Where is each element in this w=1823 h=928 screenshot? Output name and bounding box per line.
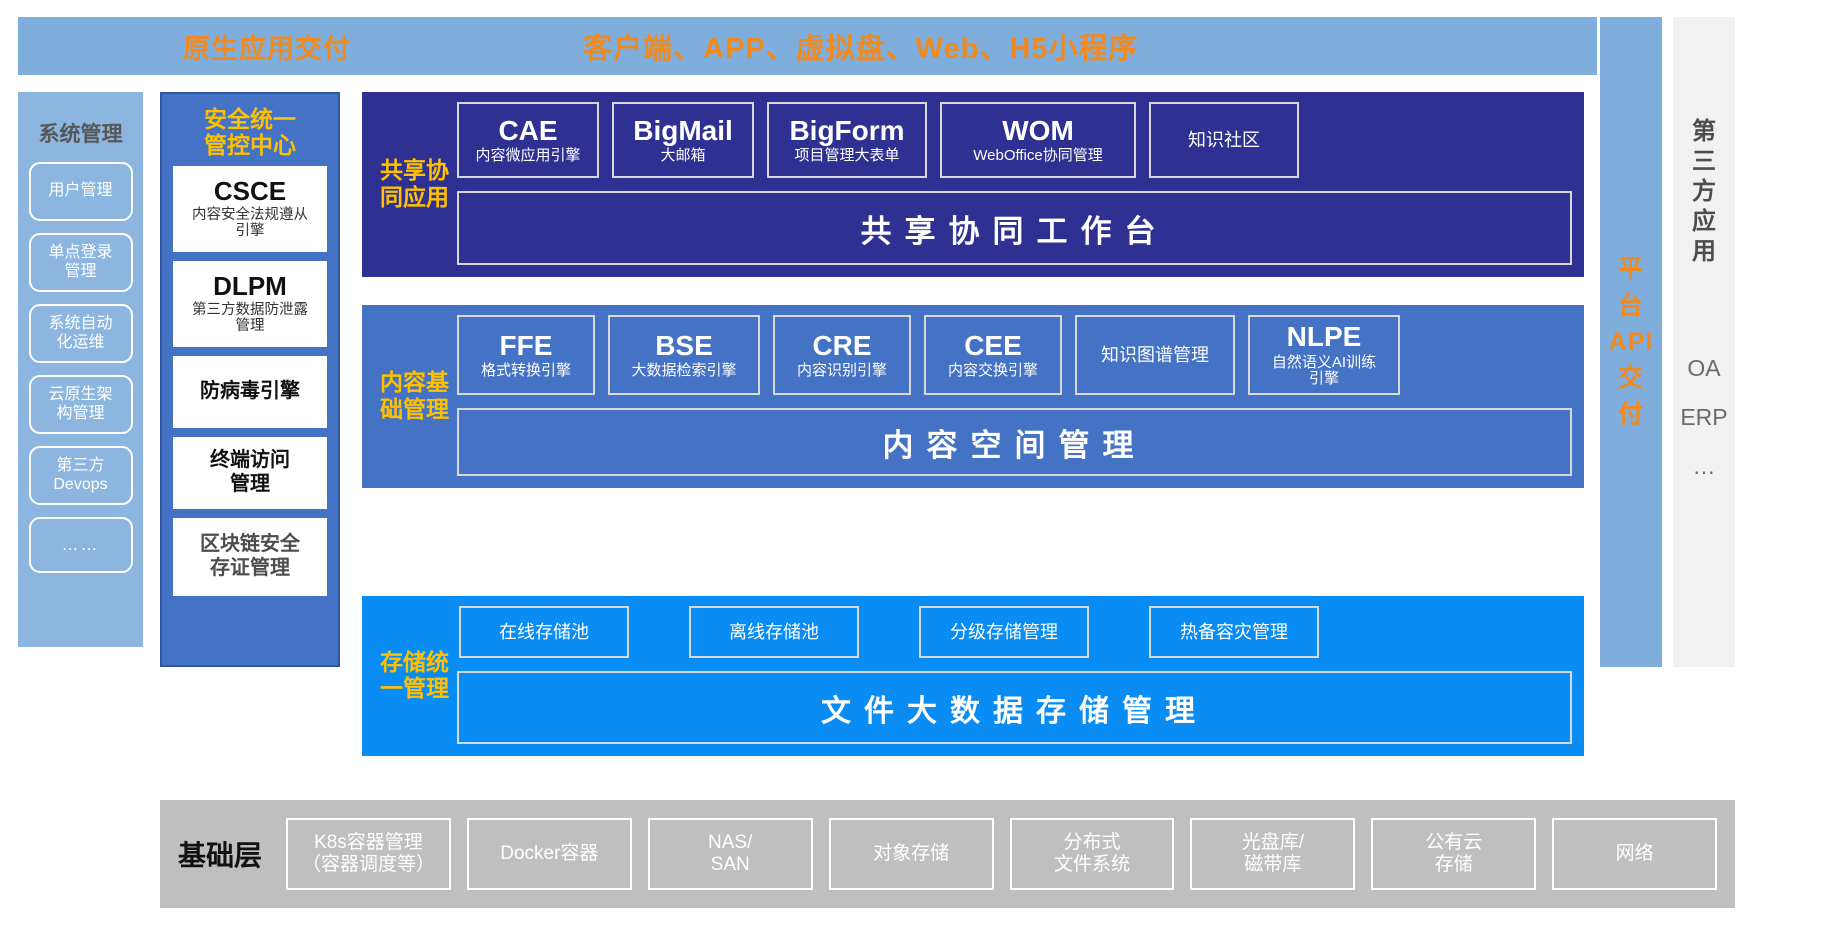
engine-tile-cee[interactable]: CEE 内容交换引擎	[924, 315, 1062, 395]
infra-tile-network[interactable]: 网络	[1552, 818, 1717, 890]
infra-tile-nas-san[interactable]: NAS/SAN	[648, 818, 813, 890]
security-item-terminal-access[interactable]: 终端访问管理	[173, 437, 327, 509]
content-foundation-label: 内容基础管理	[372, 315, 457, 476]
third-party-title-char: 应	[1692, 207, 1716, 237]
app-tile-cae[interactable]: CAE 内容微应用引擎	[457, 102, 599, 178]
infra-tile-docker[interactable]: Docker容器	[467, 818, 632, 890]
storage-tile-tiered-management[interactable]: 分级存储管理	[919, 606, 1089, 658]
sys-item-label: 系统自动化运维	[48, 315, 112, 352]
sidebar-item-cloud-native-arch[interactable]: 云原生架构管理	[29, 375, 133, 434]
storage-tile-hot-backup-dr[interactable]: 热备容灾管理	[1149, 606, 1319, 658]
content-space-management-banner[interactable]: 内容空间管理	[457, 408, 1572, 476]
infra-tile-public-cloud-storage[interactable]: 公有云存储	[1371, 818, 1536, 890]
infra-tile-k8s[interactable]: K8s容器管理（容器调度等）	[286, 818, 451, 890]
infra-tile-optical-tape-library[interactable]: 光盘库/磁带库	[1190, 818, 1355, 890]
third-party-item-oa[interactable]: OA	[1687, 355, 1720, 382]
third-party-title-char: 用	[1692, 237, 1716, 267]
app-tile-wom[interactable]: WOM WebOffice协同管理	[940, 102, 1136, 178]
client-channels-label: 客户端、APP、虚拟盘、Web、H5小程序	[583, 25, 1138, 67]
tile-title: 知识社区	[1188, 130, 1260, 151]
engine-tile-cre[interactable]: CRE 内容识别引擎	[773, 315, 911, 395]
sys-item-label: 第三方Devops	[53, 457, 107, 494]
security-item-label: 终端访问管理	[210, 449, 290, 496]
tile-subtitle: 内容微应用引擎	[475, 148, 580, 165]
third-party-item-erp[interactable]: ERP	[1680, 404, 1727, 431]
platform-api-char: 交	[1609, 360, 1654, 396]
platform-api-char: 付	[1609, 396, 1654, 432]
security-item-antivirus-engine[interactable]: 防病毒引擎	[173, 356, 327, 428]
infrastructure-layer: 基础层 K8s容器管理（容器调度等） Docker容器 NAS/SAN 对象存储…	[160, 800, 1735, 908]
security-center-title: 安全统一管控中心	[173, 107, 327, 159]
storage-unified-row: 存储统一管理 在线存储池 离线存储池 分级存储管理 热备容灾管理 文件大数据存储…	[362, 596, 1584, 756]
sys-item-label: 单点登录管理	[48, 244, 112, 281]
sidebar-item-automated-ops[interactable]: 系统自动化运维	[29, 304, 133, 363]
tile-title: 知识图谱管理	[1101, 345, 1209, 366]
engine-tile-knowledge-graph[interactable]: 知识图谱管理	[1075, 315, 1235, 395]
tile-subtitle: 内容识别引擎	[797, 363, 887, 380]
third-party-column: 第 三 方 应 用 OA ERP …	[1673, 17, 1735, 667]
third-party-title-char: 三	[1692, 147, 1716, 177]
row-spacer	[362, 488, 1584, 598]
platform-api-label: 平 台 API 交 付	[1609, 251, 1654, 432]
tile-title: CAE	[498, 116, 557, 145]
top-delivery-banner: 原生应用交付 客户端、APP、虚拟盘、Web、H5小程序	[18, 17, 1597, 75]
app-tile-knowledge-community[interactable]: 知识社区	[1149, 102, 1299, 178]
engine-tile-nlpe[interactable]: NLPE 自然语义AI训练引擎	[1248, 315, 1400, 395]
sidebar-item-sso-management[interactable]: 单点登录管理	[29, 233, 133, 292]
shared-collaboration-row: 共享协同应用 CAE 内容微应用引擎 BigMail 大邮箱 BigForm 项…	[362, 92, 1584, 277]
tile-subtitle: 自然语义AI训练引擎	[1272, 355, 1376, 388]
third-party-title: 第 三 方 应 用	[1692, 117, 1716, 267]
tile-title: BSE	[655, 331, 713, 360]
tile-subtitle: 项目管理大表单	[794, 148, 899, 165]
file-bigdata-storage-banner[interactable]: 文件大数据存储管理	[457, 671, 1572, 744]
engine-tile-bse[interactable]: BSE 大数据检索引擎	[608, 315, 760, 395]
platform-api-char: 平	[1609, 251, 1654, 287]
third-party-item-more[interactable]: …	[1693, 453, 1716, 480]
storage-tile-online-pool[interactable]: 在线存储池	[459, 606, 629, 658]
content-foundation-tiles: FFE 格式转换引擎 BSE 大数据检索引擎 CRE 内容识别引擎 CEE 内容…	[457, 315, 1572, 395]
tile-subtitle: WebOffice协同管理	[973, 148, 1102, 165]
system-management-title: 系统管理	[39, 118, 123, 148]
app-tile-bigmail[interactable]: BigMail 大邮箱	[612, 102, 754, 178]
security-item-label: 区块链安全存证管理	[200, 533, 300, 580]
infra-tile-distributed-fs[interactable]: 分布式文件系统	[1010, 818, 1175, 890]
tile-title: CRE	[812, 331, 871, 360]
sidebar-item-more[interactable]: ……	[29, 517, 133, 573]
tile-title: FFE	[500, 331, 553, 360]
security-item-desc: 内容安全法规遵从引擎	[192, 207, 308, 239]
tile-title: WOM	[1002, 116, 1074, 145]
shared-collaboration-workbench-banner[interactable]: 共享协同工作台	[457, 191, 1572, 265]
security-item-csce[interactable]: CSCE 内容安全法规遵从引擎	[173, 166, 327, 252]
engine-tile-ffe[interactable]: FFE 格式转换引擎	[457, 315, 595, 395]
tile-subtitle: 格式转换引擎	[481, 363, 571, 380]
architecture-diagram: 原生应用交付 客户端、APP、虚拟盘、Web、H5小程序 系统管理 用户管理 单…	[0, 0, 1823, 928]
sys-item-label: ……	[62, 535, 100, 555]
platform-api-char: 台	[1609, 288, 1654, 324]
storage-tile-offline-pool[interactable]: 离线存储池	[689, 606, 859, 658]
security-item-dlpm[interactable]: DLPM 第三方数据防泄露管理	[173, 261, 327, 347]
platform-api-column: 平 台 API 交 付	[1600, 17, 1662, 667]
tile-title: 分级存储管理	[950, 622, 1058, 643]
tile-title: NLPE	[1287, 322, 1362, 351]
tile-subtitle: 大数据检索引擎	[631, 363, 736, 380]
shared-collaboration-label: 共享协同应用	[372, 102, 457, 265]
security-item-label: 防病毒引擎	[200, 380, 300, 404]
sidebar-item-user-management[interactable]: 用户管理	[29, 162, 133, 221]
storage-unified-label: 存储统一管理	[372, 606, 457, 744]
tile-title: 在线存储池	[499, 622, 589, 643]
sys-item-label: 云原生架构管理	[48, 386, 112, 423]
tile-title: BigForm	[789, 116, 904, 145]
third-party-title-char: 方	[1692, 177, 1716, 207]
native-app-delivery-label: 原生应用交付	[183, 27, 351, 66]
security-item-code: DLPM	[213, 272, 287, 301]
security-center-column: 安全统一管控中心 CSCE 内容安全法规遵从引擎 DLPM 第三方数据防泄露管理…	[160, 92, 340, 667]
security-item-code: CSCE	[214, 177, 286, 206]
tile-subtitle: 内容交换引擎	[948, 363, 1038, 380]
sidebar-item-third-party-devops[interactable]: 第三方Devops	[29, 446, 133, 505]
tile-title: CEE	[964, 331, 1022, 360]
content-foundation-row: 内容基础管理 FFE 格式转换引擎 BSE 大数据检索引擎 CRE 内容识别引擎…	[362, 305, 1584, 488]
platform-api-char: API	[1609, 324, 1654, 360]
system-management-column: 系统管理 用户管理 单点登录管理 系统自动化运维 云原生架构管理 第三方Devo…	[18, 92, 143, 647]
app-tile-bigform[interactable]: BigForm 项目管理大表单	[767, 102, 927, 178]
tile-title: 离线存储池	[729, 622, 819, 643]
security-item-blockchain-evidence[interactable]: 区块链安全存证管理	[173, 518, 327, 596]
security-item-desc: 第三方数据防泄露管理	[192, 302, 308, 334]
infrastructure-title: 基础层	[178, 834, 262, 874]
shared-collaboration-tiles: CAE 内容微应用引擎 BigMail 大邮箱 BigForm 项目管理大表单 …	[457, 102, 1572, 178]
infra-tile-object-storage[interactable]: 对象存储	[829, 818, 994, 890]
third-party-title-char: 第	[1692, 117, 1716, 147]
tile-title: 热备容灾管理	[1180, 622, 1288, 643]
tile-title: BigMail	[633, 116, 733, 145]
tile-subtitle: 大邮箱	[660, 148, 705, 165]
sys-item-label: 用户管理	[48, 182, 112, 200]
storage-tiles: 在线存储池 离线存储池 分级存储管理 热备容灾管理	[457, 606, 1572, 658]
